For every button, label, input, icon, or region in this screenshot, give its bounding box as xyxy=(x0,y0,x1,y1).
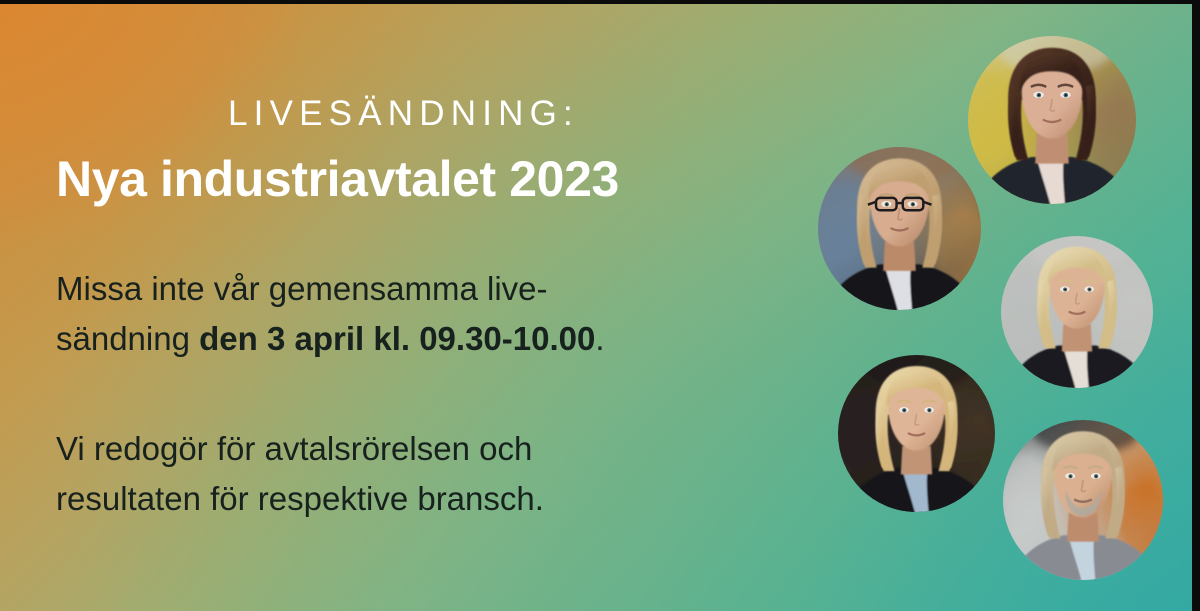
man-grey-beard-portrait xyxy=(1003,420,1163,580)
livestream-promo-banner: LIVESÄNDNING: Nya industriavtalet 2023 M… xyxy=(0,0,1200,611)
woman-dark-brown-hair-portrait xyxy=(968,36,1136,204)
intro-paragraph-line-1: Missa inte vår gemensamma live- xyxy=(56,264,605,314)
top-border-strip xyxy=(0,0,1200,4)
description-paragraph-line-1: Vi redogör för avtalsrörelsen och xyxy=(56,424,544,474)
intro-paragraph-line-2-prefix: sändning xyxy=(56,320,199,357)
right-border-strip xyxy=(1192,0,1200,611)
text-content-column: LIVESÄNDNING: Nya industriavtalet 2023 M… xyxy=(56,0,816,611)
page-title: Nya industriavtalet 2023 xyxy=(56,152,619,206)
description-paragraph: Vi redogör för avtalsrörelsen och result… xyxy=(56,424,544,524)
woman-blonde-smiling-portrait xyxy=(838,355,995,512)
intro-paragraph: Missa inte vår gemensamma live- sändning… xyxy=(56,264,605,364)
eyebrow-label: LIVESÄNDNING: xyxy=(228,96,579,131)
description-paragraph-line-2: resultaten för respektive bransch. xyxy=(56,474,544,524)
intro-paragraph-line-2: sändning den 3 april kl. 09.30-10.00. xyxy=(56,314,605,364)
woman-blonde-grey-background-portrait xyxy=(1001,236,1153,388)
man-blond-glasses-portrait xyxy=(818,147,981,310)
event-datetime-emphasis: den 3 april kl. 09.30-10.00 xyxy=(199,320,595,357)
intro-paragraph-line-2-suffix: . xyxy=(595,320,604,357)
